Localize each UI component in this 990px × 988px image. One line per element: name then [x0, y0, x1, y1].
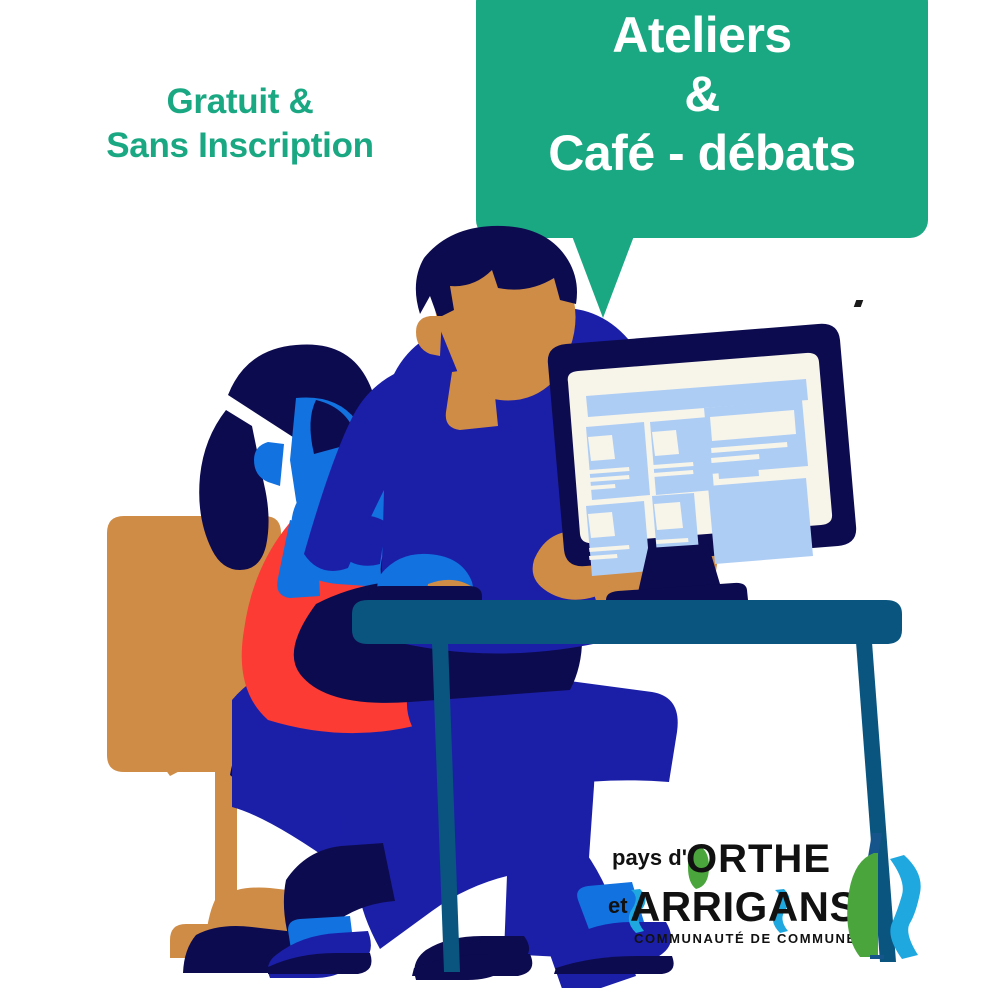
logo-symbol [847, 833, 920, 959]
logo-tagline: COMMUNAUTÉ DE COMMUNES [634, 931, 867, 946]
logo-pays-dorthe-et-arrigans: pays d' ORTHE et ARRIGANS COMMUNAUTÉ DE … [608, 833, 960, 963]
leaf-base-icon [870, 955, 884, 959]
computer-monitor [548, 324, 856, 617]
logo-line2-prefix: et [608, 893, 628, 918]
green-leaf-icon [847, 853, 878, 957]
blue-river-icon [890, 855, 921, 959]
man-shoe-left [412, 936, 532, 980]
logo-line1-main: ORTHE [686, 837, 831, 881]
logo-line2-main: ARRIGANS [630, 883, 858, 930]
poster-root: Gratuit & Sans Inscription Ateliers & Ca… [0, 0, 990, 988]
logo-line1-prefix: pays d' [612, 845, 687, 870]
